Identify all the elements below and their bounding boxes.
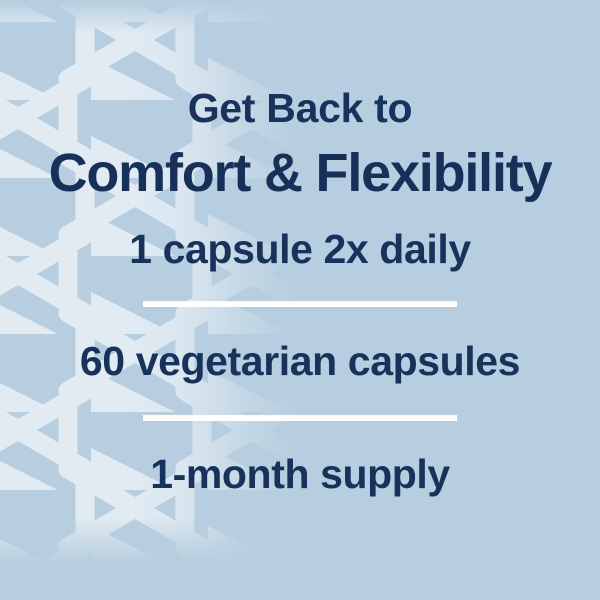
product-info-card: Get Back to Comfort & Flexibility 1 caps… — [0, 0, 600, 600]
divider-2 — [143, 415, 457, 421]
fact-supply-duration: 1-month supply — [150, 454, 450, 495]
fact-capsule-count: 60 vegetarian capsules — [80, 341, 520, 382]
divider-1 — [143, 301, 457, 307]
page-title: Comfort & Flexibility — [49, 146, 552, 200]
content-stack: Get Back to Comfort & Flexibility 1 caps… — [0, 0, 600, 600]
fact-dosage: 1 capsule 2x daily — [129, 229, 471, 270]
headline-eyebrow: Get Back to — [188, 88, 413, 129]
